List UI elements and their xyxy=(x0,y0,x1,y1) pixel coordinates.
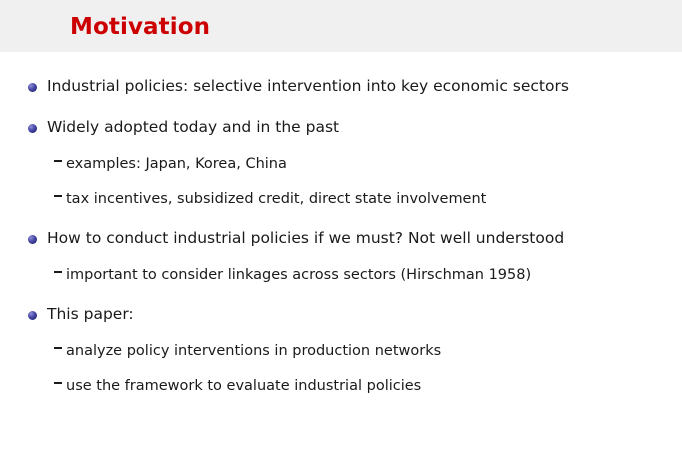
bullet-sphere-icon xyxy=(28,235,37,244)
list-item: analyze policy interventions in producti… xyxy=(0,339,682,374)
list-item-label: tax incentives, subsidized credit, direc… xyxy=(66,187,682,209)
list-item-label: This paper: xyxy=(47,298,682,324)
list-item-label: How to conduct industrial policies if we… xyxy=(47,222,682,248)
list-item: use the framework to evaluate industrial… xyxy=(0,374,682,409)
bullet-sphere-icon xyxy=(28,124,37,133)
list-item: tax incentives, subsidized credit, direc… xyxy=(0,187,682,222)
slide-content: Industrial policies: selective intervent… xyxy=(0,52,682,456)
dash-icon xyxy=(54,382,62,384)
presentation-slide: Motivation Industrial policies: selectiv… xyxy=(0,0,682,456)
bullet-sphere-icon xyxy=(28,83,37,92)
dash-icon xyxy=(54,271,62,273)
bullet-list: Industrial policies: selective intervent… xyxy=(0,52,682,409)
list-item-label: examples: Japan, Korea, China xyxy=(66,152,682,174)
list-item: This paper: xyxy=(0,298,682,339)
dash-icon xyxy=(54,195,62,197)
page-title: Motivation xyxy=(70,12,210,42)
list-item-label: Widely adopted today and in the past xyxy=(47,111,682,137)
dash-icon xyxy=(54,347,62,349)
slide-title-bar: Motivation xyxy=(0,0,682,52)
list-item-label: use the framework to evaluate industrial… xyxy=(66,374,682,396)
list-item: Industrial policies: selective intervent… xyxy=(0,70,682,111)
list-item-label: important to consider linkages across se… xyxy=(66,263,682,285)
list-item: examples: Japan, Korea, China xyxy=(0,152,682,187)
list-item: important to consider linkages across se… xyxy=(0,263,682,298)
list-item-label: analyze policy interventions in producti… xyxy=(66,339,682,361)
bullet-sphere-icon xyxy=(28,311,37,320)
dash-icon xyxy=(54,160,62,162)
list-item-label: Industrial policies: selective intervent… xyxy=(47,70,682,96)
list-item: Widely adopted today and in the past xyxy=(0,111,682,152)
list-item: How to conduct industrial policies if we… xyxy=(0,222,682,263)
